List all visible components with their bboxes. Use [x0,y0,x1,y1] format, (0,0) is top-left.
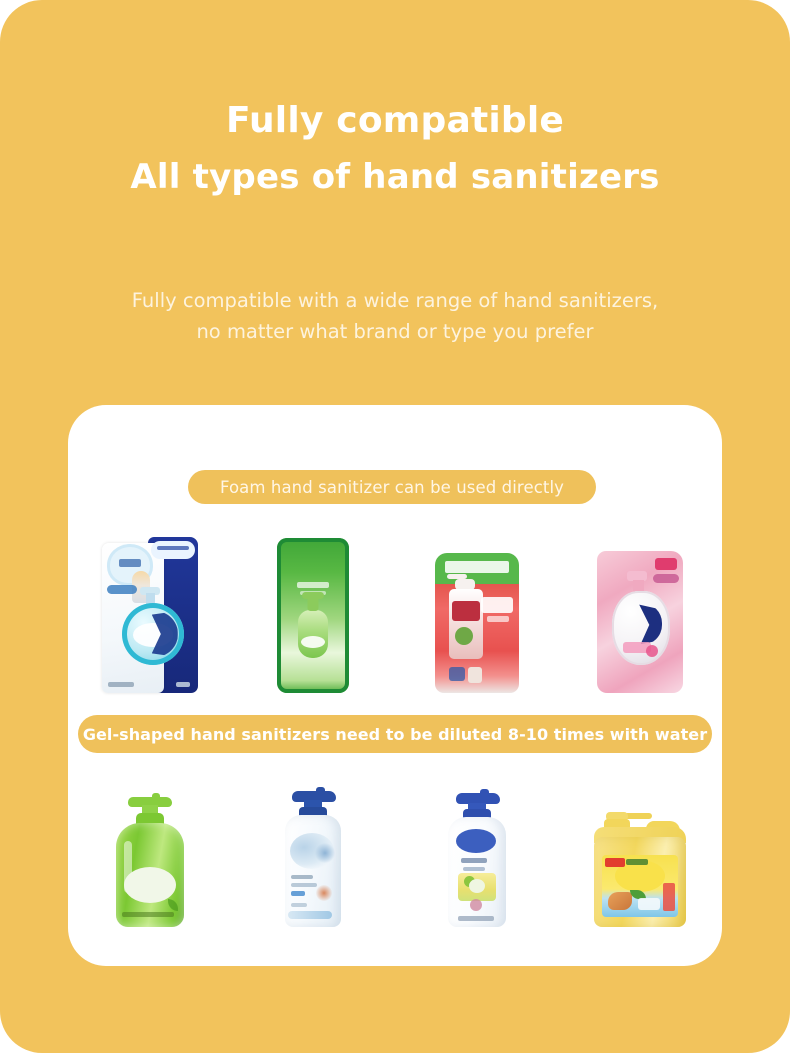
product-cell [395,513,559,693]
pouch-headline-text [445,561,509,573]
subtitle-line-1: Fully compatible with a wide range of ha… [0,285,790,316]
product-cell [232,513,396,693]
pouch-tag [107,585,137,594]
bottle-liquid [452,601,480,621]
product-cell [559,513,723,693]
bottle-graphic [612,591,670,665]
product-cell [68,767,232,927]
bottle-graphic [449,589,483,659]
jug-label [602,855,678,917]
product-cell [559,767,723,927]
pouch-corner-tag [655,558,677,570]
label-blob [470,899,482,911]
bottle-label-line-1 [461,858,487,863]
pouch-top-banner [151,541,195,559]
bottle-label-line-4 [291,903,307,907]
pouch-body [597,551,683,693]
product-cell [395,767,559,927]
product-white-lemon-pump-bottle [445,789,509,927]
product-blue-white-foam-refill-pouch [102,533,198,693]
promo-banner: Fully compatible All types of hand sanit… [0,0,790,1053]
subtitle-line-2: no matter what brand or type you prefer [0,316,790,347]
pouch-body [435,553,519,693]
label-side-band [663,883,675,911]
heading-block: Fully compatible All types of hand sanit… [0,96,790,202]
page-title-line-1: Fully compatible [0,96,790,146]
subtitle-block: Fully compatible with a wide range of ha… [0,285,790,347]
brand-script-text [481,597,513,613]
lemon-illustration [458,873,496,901]
pouch-corner-subtag [653,574,679,583]
bottle-label-line-1 [291,875,313,879]
ginger-illustration [608,892,632,910]
product-green-pump-bottle [112,795,188,927]
lime-icon [464,876,475,887]
foam-product-row [68,513,722,693]
product-green-aloe-refill-pouch [277,538,349,693]
gel-section-badge: Gel-shaped hand sanitizers need to be di… [78,715,712,753]
product-red-value-refill-pouch [435,553,519,693]
bottle-footer-text [458,916,494,921]
bottle-label [301,636,325,648]
bottle-label-line-2 [463,867,485,871]
jug-spout [624,813,652,819]
brand-subtext [487,616,509,622]
page-title-line-2: All types of hand sanitizers [0,152,790,202]
bottle-graphic [122,603,184,665]
bottle-label-line-2 [291,883,317,887]
pouch-footer-text [108,682,134,687]
foam-section-badge: Foam hand sanitizer can be used directly [188,470,596,504]
pouch-body [277,538,349,693]
pouch-volume-text [176,682,190,687]
swoosh-shape [638,603,662,645]
bottle-graphic [298,610,328,658]
mini-pack-left [449,667,465,681]
bottle-label-text [122,912,174,917]
pump-stem [480,789,489,797]
product-yellow-detergent-jug [594,809,686,927]
product-white-blue-pump-bottle [282,787,344,927]
pump-stem [152,793,160,801]
compatibility-card: Foam hand sanitizer can be used directly [68,405,722,966]
product-pink-refill-pouch [597,551,683,693]
bottle-label-dot [455,627,473,645]
product-cell [68,513,232,693]
promo-tag [605,858,625,867]
pump-stem [316,787,325,795]
salt-illustration [638,898,660,910]
bottle-label-line-3 [291,891,305,896]
wave-graphic [288,911,332,919]
product-cell [232,767,396,927]
gel-product-row [68,767,722,927]
bottle-label-dot [646,645,658,657]
blue-oval-label [456,829,496,853]
promo-subtag [626,859,648,865]
pouch-title-text [297,582,329,588]
bottle-label [124,867,176,903]
mini-pack-right [468,667,482,683]
